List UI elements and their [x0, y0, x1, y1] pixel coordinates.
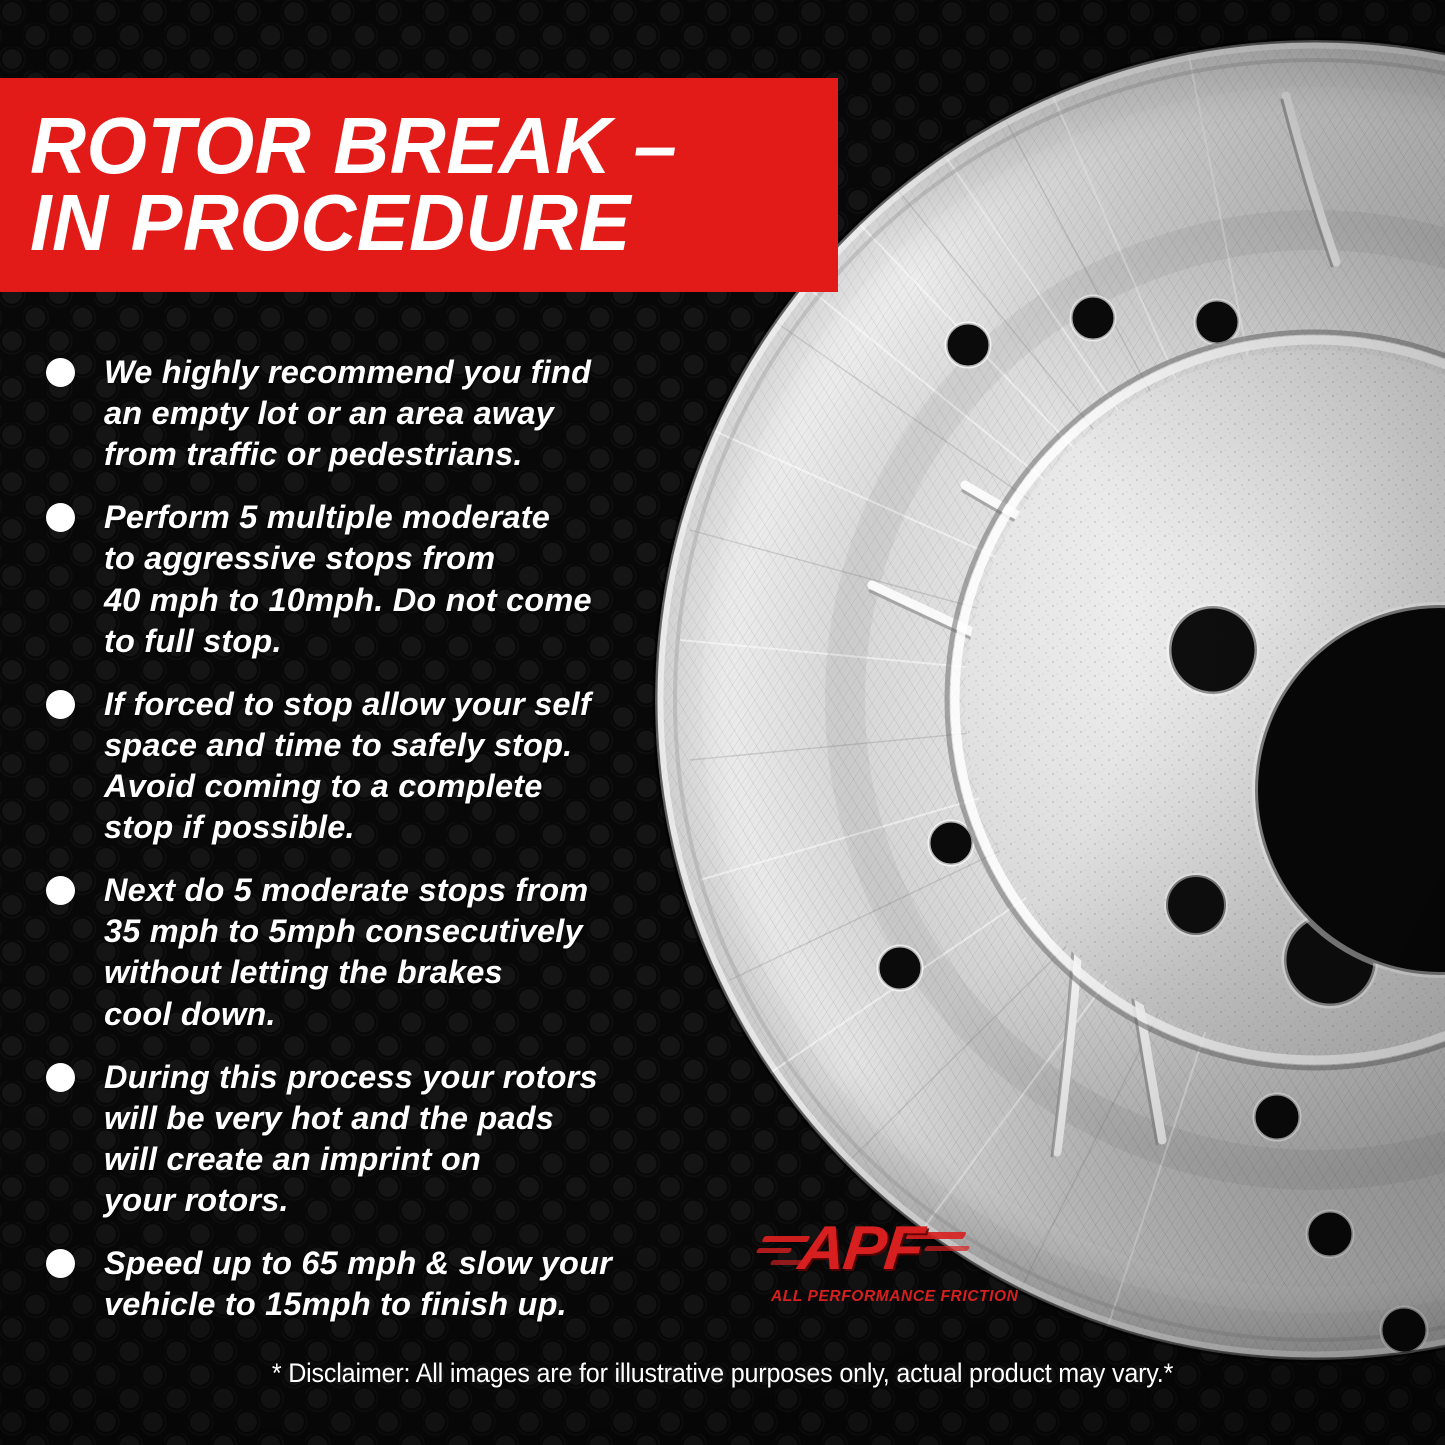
list-item: We highly recommend you find an empty lo… [46, 352, 776, 475]
speed-streak-icon [756, 1248, 793, 1253]
list-item-text: Perform 5 multiple moderate to aggressiv… [104, 497, 592, 661]
list-item-text: Speed up to 65 mph & slow your vehicle t… [104, 1243, 612, 1325]
apf-tagline: ALL PERFORMANCE FRICTION [771, 1288, 1018, 1306]
list-item: During this process your rotors will be … [46, 1057, 776, 1221]
list-item: Speed up to 65 mph & slow your vehicle t… [46, 1243, 776, 1325]
speed-streak-icon [924, 1246, 971, 1251]
apf-wordmark: APF [796, 1218, 925, 1280]
rotor-break-in-infographic: ROTOR BREAK – IN PROCEDURE We highly rec… [0, 0, 1445, 1445]
list-item: Next do 5 moderate stops from 35 mph to … [46, 870, 776, 1034]
list-item-text: If forced to stop allow your self space … [104, 684, 591, 848]
bullet-dot-icon [46, 876, 75, 905]
bullet-dot-icon [46, 1063, 75, 1092]
procedure-steps-list: We highly recommend you find an empty lo… [46, 352, 776, 1347]
apf-logo: APF ALL PERFORMANCE FRICTION [757, 1222, 977, 1322]
list-item-text: Next do 5 moderate stops from 35 mph to … [104, 870, 588, 1034]
disclaimer-text: * Disclaimer: All images are for illustr… [51, 1358, 1395, 1389]
title-line-1: ROTOR BREAK – [30, 108, 814, 185]
bullet-dot-icon [46, 1249, 75, 1278]
list-item-text: During this process your rotors will be … [104, 1057, 598, 1221]
bullet-dot-icon [46, 358, 75, 387]
list-item: Perform 5 multiple moderate to aggressiv… [46, 497, 776, 661]
list-item: If forced to stop allow your self space … [46, 684, 776, 848]
bullet-dot-icon [46, 503, 75, 532]
bullet-dot-icon [46, 690, 75, 719]
list-item-text: We highly recommend you find an empty lo… [104, 352, 591, 475]
apf-logo-mark: APF ALL PERFORMANCE FRICTION [757, 1222, 977, 1294]
title-line-2: IN PROCEDURE [30, 185, 814, 262]
title-banner: ROTOR BREAK – IN PROCEDURE [0, 78, 838, 292]
